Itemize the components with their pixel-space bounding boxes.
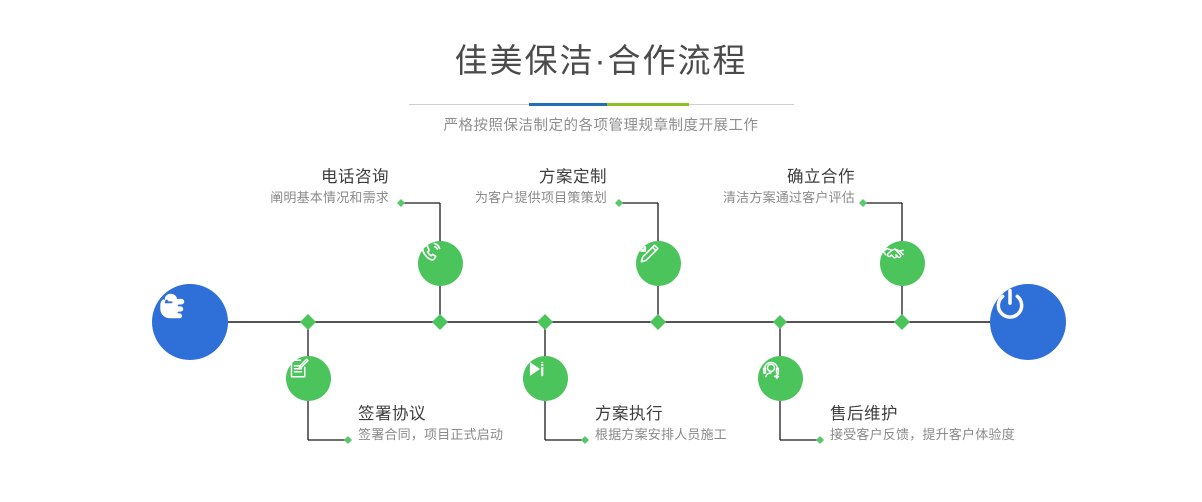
label-diamond: [816, 436, 824, 444]
flow-start-node[interactable]: [152, 284, 228, 360]
step-title-s3: 方案定制: [475, 166, 607, 188]
step-label-s3: 方案定制 为客户提供项目策策划: [475, 166, 607, 207]
divider-segment-green: [607, 103, 689, 106]
step-subtitle-s6: 接受客户反馈，提升客户体验度: [830, 425, 1015, 444]
label-diamond: [397, 199, 405, 207]
step-node-s2[interactable]: [286, 356, 331, 401]
step-subtitle-s4: 根据方案安排人员施工: [595, 425, 727, 444]
step-label-s5: 确立合作 清洁方案通过客户评估: [723, 166, 855, 207]
title-divider: [409, 103, 794, 106]
flow-end-node[interactable]: [990, 284, 1066, 360]
diamond-marker: [650, 314, 666, 330]
step-node-s3[interactable]: [636, 241, 681, 286]
label-diamond: [344, 436, 352, 444]
diamond-marker: [300, 314, 316, 330]
process-flow: 电话咨询 阐明基本情况和需求 方案定制 为客户提供项目策策划: [0, 150, 1202, 502]
step-title-s5: 确立合作: [723, 166, 855, 188]
step-subtitle-s3: 为客户提供项目策策划: [475, 188, 607, 207]
step-node-s6[interactable]: [758, 356, 803, 401]
flowchart-page: 佳美保洁·合作流程 严格按照保洁制定的各项管理规章制度开展工作: [0, 0, 1202, 502]
step-node-s5[interactable]: [880, 241, 925, 286]
step-label-s2: 签署协议 签署合同，项目正式启动: [358, 403, 503, 444]
divider-segment-blue: [529, 103, 607, 106]
step-subtitle-s1: 阐明基本情况和需求: [270, 188, 389, 207]
step-title-s4: 方案执行: [595, 403, 727, 425]
diamond-marker: [773, 315, 787, 329]
diamond-marker: [432, 314, 448, 330]
label-diamond: [859, 199, 867, 207]
step-label-s1: 电话咨询 阐明基本情况和需求: [270, 166, 389, 207]
step-subtitle-s2: 签署合同，项目正式启动: [358, 425, 503, 444]
step-title-s1: 电话咨询: [270, 166, 389, 188]
page-header: 佳美保洁·合作流程 严格按照保洁制定的各项管理规章制度开展工作: [0, 0, 1202, 136]
step-title-s2: 签署协议: [358, 403, 503, 425]
step-node-s4[interactable]: [523, 356, 568, 401]
step-label-s4: 方案执行 根据方案安排人员施工: [595, 403, 727, 444]
diamond-marker: [894, 314, 910, 330]
page-subtitle: 严格按照保洁制定的各项管理规章制度开展工作: [0, 116, 1202, 136]
step-title-s6: 售后维护: [830, 403, 1015, 425]
page-title: 佳美保洁·合作流程: [0, 42, 1202, 80]
label-diamond: [615, 199, 623, 207]
step-label-s6: 售后维护 接受客户反馈，提升客户体验度: [830, 403, 1015, 444]
step-subtitle-s5: 清洁方案通过客户评估: [723, 188, 855, 207]
diamond-marker: [537, 314, 553, 330]
step-node-s1[interactable]: [418, 241, 463, 286]
label-diamond: [581, 436, 589, 444]
